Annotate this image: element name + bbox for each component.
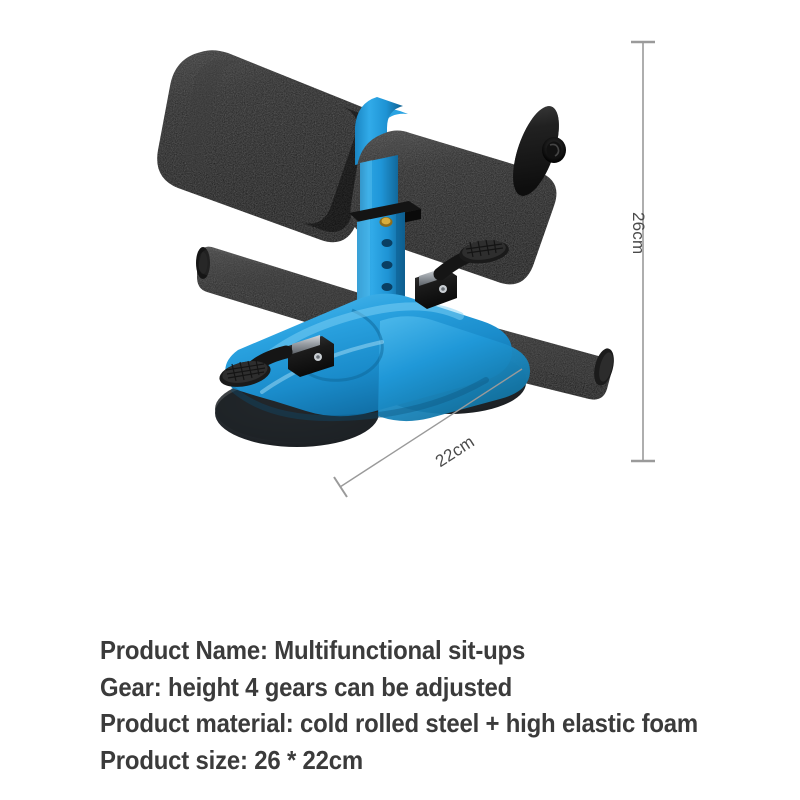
spec-line-product-material: Product material: cold rolled steel + hi… [100,705,707,742]
product-image: 26cm 22cm [0,0,800,560]
product-spec-list: Product Name: Multifunctional sit-ups Ge… [100,632,760,778]
spec-line-product-name: Product Name: Multifunctional sit-ups [100,632,707,669]
roller-end-cap-icon [542,137,566,163]
product-detail-page: 26cm 22cm Product Name: Multifunctional … [0,0,800,800]
height-dimension-label: 26cm [628,212,648,254]
product-illustration [0,0,800,560]
spec-line-product-size: Product size: 26 * 22cm [100,742,707,779]
adjustment-screw-icon [380,217,393,227]
spec-line-gear: Gear: height 4 gears can be adjusted [100,669,707,706]
